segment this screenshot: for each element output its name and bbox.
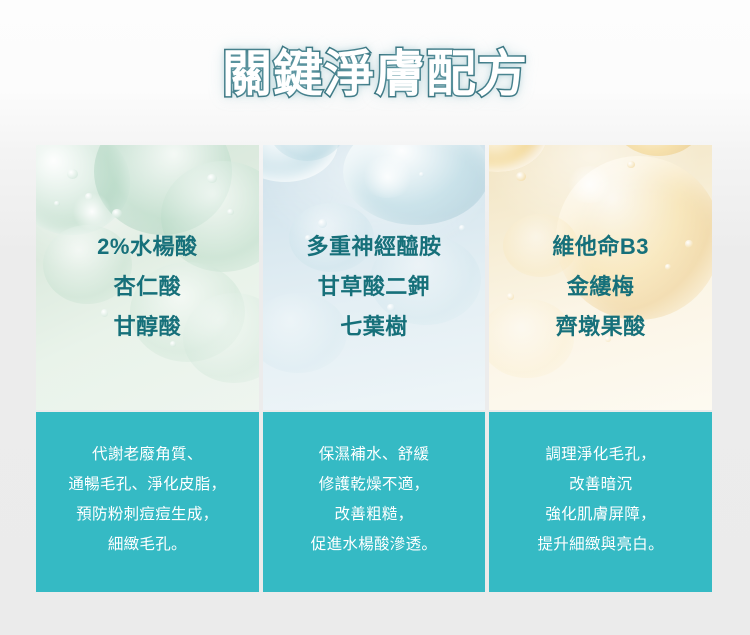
benefit-text-hydrating: 保濕補水、舒緩 修護乾燥不適， 改善粗糙， 促進水楊酸滲透。 bbox=[311, 440, 437, 560]
benefit-line: 強化肌膚屏障， bbox=[537, 500, 663, 530]
benefit-line: 促進水楊酸滲透。 bbox=[311, 530, 437, 560]
ingredient-list-brightening: 維他命B3 金縷梅 齊墩果酸 bbox=[489, 227, 712, 347]
page-title: 關鍵淨膚配方 bbox=[222, 44, 528, 104]
ingredient-list-exfoliating: 2%水楊酸 杏仁酸 甘醇酸 bbox=[36, 227, 259, 347]
ingredient-item: 維他命B3 bbox=[489, 227, 712, 267]
title-container: 關鍵淨膚配方 bbox=[0, 44, 750, 104]
benefit-line: 保濕補水、舒緩 bbox=[311, 440, 437, 470]
benefit-text-exfoliating: 代謝老廢角質、 通暢毛孔、淨化皮脂， 預防粉刺痘痘生成， 細緻毛孔。 bbox=[68, 440, 226, 560]
benefit-line: 提升細緻與亮白。 bbox=[537, 530, 663, 560]
infographic-page: 關鍵淨膚配方 2%水楊酸 杏仁酸 甘醇酸 bbox=[0, 0, 750, 635]
ingredient-item: 齊墩果酸 bbox=[489, 307, 712, 347]
benefit-text-brightening: 調理淨化毛孔， 改善暗沉 強化肌膚屏障， 提升細緻與亮白。 bbox=[537, 440, 663, 560]
benefit-panel-brightening: 調理淨化毛孔， 改善暗沉 強化肌膚屏障， 提升細緻與亮白。 bbox=[489, 412, 712, 592]
benefit-panel-exfoliating: 代謝老廢角質、 通暢毛孔、淨化皮脂， 預防粉刺痘痘生成， 細緻毛孔。 bbox=[36, 412, 259, 592]
ingredient-item: 甘醇酸 bbox=[36, 307, 259, 347]
benefit-line: 修護乾燥不適， bbox=[311, 470, 437, 500]
column-exfoliating: 2%水楊酸 杏仁酸 甘醇酸 代謝老廢角質、 通暢毛孔、淨化皮脂， 預防粉刺痘痘生… bbox=[36, 145, 259, 592]
ingredient-item: 2%水楊酸 bbox=[36, 227, 259, 267]
ingredient-columns: 2%水楊酸 杏仁酸 甘醇酸 代謝老廢角質、 通暢毛孔、淨化皮脂， 預防粉刺痘痘生… bbox=[36, 145, 712, 592]
ingredient-item: 七葉樹 bbox=[263, 307, 486, 347]
benefit-panel-hydrating: 保濕補水、舒緩 修護乾燥不適， 改善粗糙， 促進水楊酸滲透。 bbox=[263, 412, 486, 592]
ingredient-list-hydrating: 多重神經醯胺 甘草酸二鉀 七葉樹 bbox=[263, 227, 486, 347]
ingredient-card-brightening: 維他命B3 金縷梅 齊墩果酸 bbox=[489, 145, 712, 410]
benefit-line: 代謝老廢角質、 bbox=[68, 440, 226, 470]
column-brightening: 維他命B3 金縷梅 齊墩果酸 調理淨化毛孔， 改善暗沉 強化肌膚屏障， 提升細緻… bbox=[489, 145, 712, 592]
ingredient-card-exfoliating: 2%水楊酸 杏仁酸 甘醇酸 bbox=[36, 145, 259, 410]
ingredient-item: 甘草酸二鉀 bbox=[263, 267, 486, 307]
ingredient-card-hydrating: 多重神經醯胺 甘草酸二鉀 七葉樹 bbox=[263, 145, 486, 410]
ingredient-item: 杏仁酸 bbox=[36, 267, 259, 307]
ingredient-item: 金縷梅 bbox=[489, 267, 712, 307]
benefit-line: 通暢毛孔、淨化皮脂， bbox=[68, 470, 226, 500]
benefit-line: 細緻毛孔。 bbox=[68, 530, 226, 560]
column-hydrating: 多重神經醯胺 甘草酸二鉀 七葉樹 保濕補水、舒緩 修護乾燥不適， 改善粗糙， 促… bbox=[263, 145, 486, 592]
benefit-line: 改善粗糙， bbox=[311, 500, 437, 530]
ingredient-item: 多重神經醯胺 bbox=[263, 227, 486, 267]
benefit-line: 預防粉刺痘痘生成， bbox=[68, 500, 226, 530]
benefit-line: 調理淨化毛孔， bbox=[537, 440, 663, 470]
benefit-line: 改善暗沉 bbox=[537, 470, 663, 500]
